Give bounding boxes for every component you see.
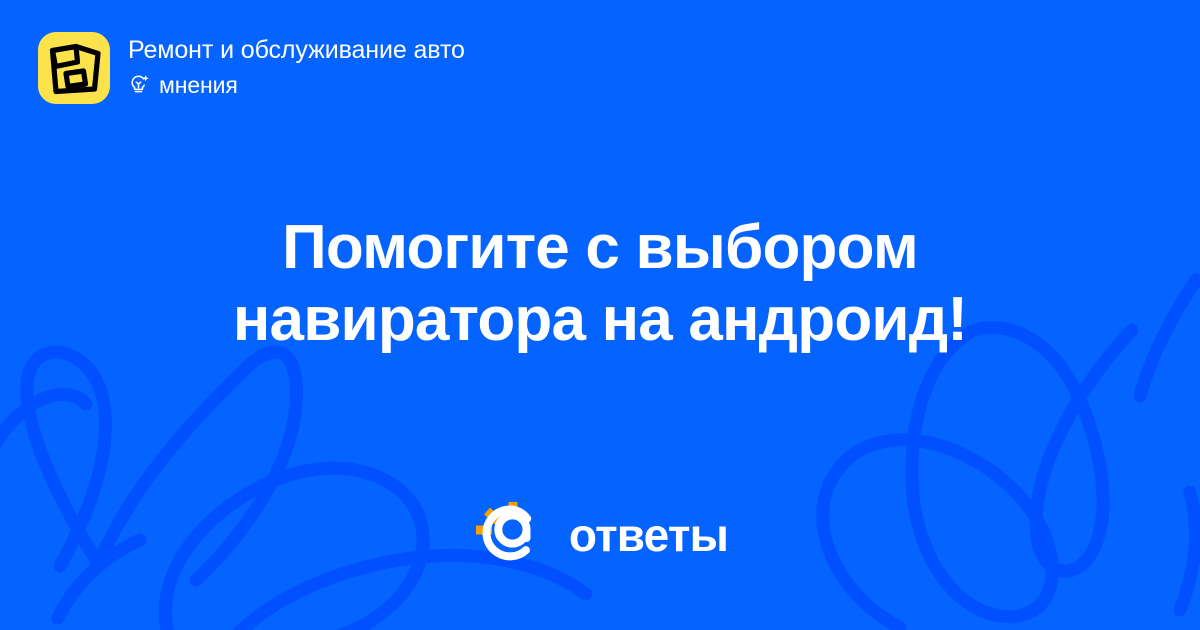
- at-sign-rays-icon: [472, 498, 552, 572]
- club-subtitle: мнения: [128, 71, 465, 99]
- club-avatar-icon[interactable]: [38, 32, 110, 104]
- lightbulb-sparkle-icon: [128, 74, 150, 96]
- brand-lockup: ответы: [0, 498, 1200, 572]
- brand-wordmark: ответы: [569, 510, 728, 560]
- share-card: Ремонт и обслуживание авто мнения Помоги…: [0, 0, 1200, 630]
- club-subtitle-label: мнения: [159, 71, 238, 99]
- club-header-text: Ремонт и обслуживание авто мнения: [128, 32, 465, 99]
- page-title: Помогите с выбором навиратора на андроид…: [100, 212, 1100, 356]
- club-header[interactable]: Ремонт и обслуживание авто мнения: [38, 32, 465, 104]
- club-name: Ремонт и обслуживание авто: [128, 34, 465, 66]
